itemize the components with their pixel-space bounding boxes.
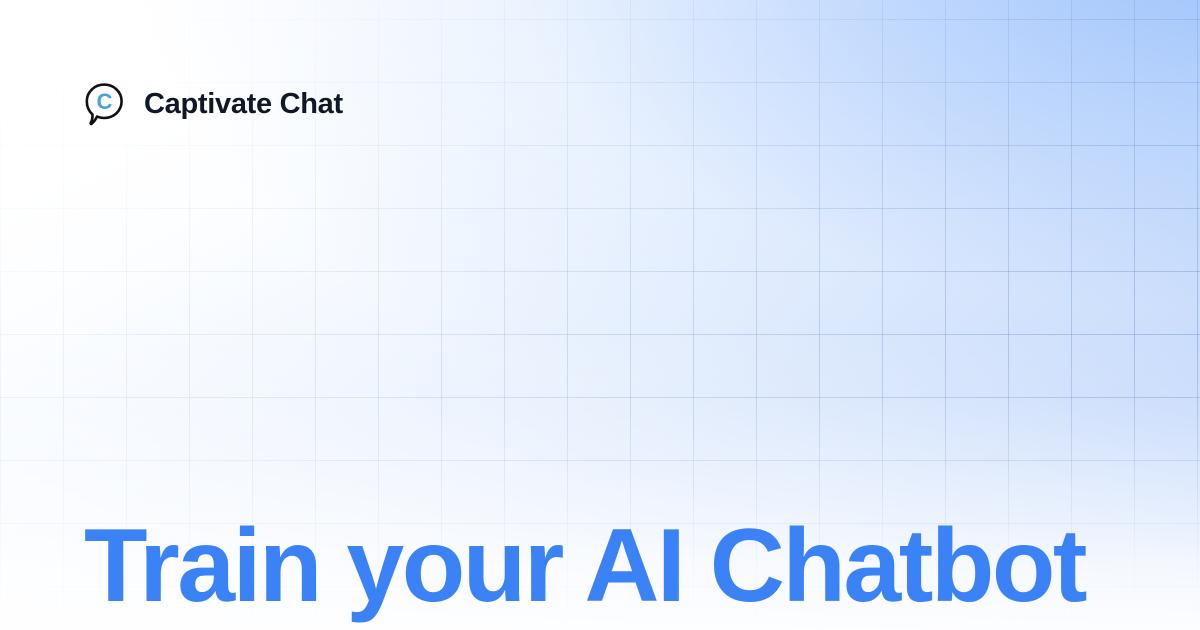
speech-bubble-c-logo-icon: C <box>84 82 126 126</box>
brand-lockup: C Captivate Chat <box>84 82 343 126</box>
brand-name: Captivate Chat <box>144 90 343 119</box>
captivate-chat-logo: C <box>84 82 126 126</box>
svg-text:C: C <box>96 89 112 114</box>
page-title: Train your AI Chatbot <box>84 510 1114 622</box>
og-card: C Captivate Chat Train your AI Chatbot <box>0 0 1200 630</box>
